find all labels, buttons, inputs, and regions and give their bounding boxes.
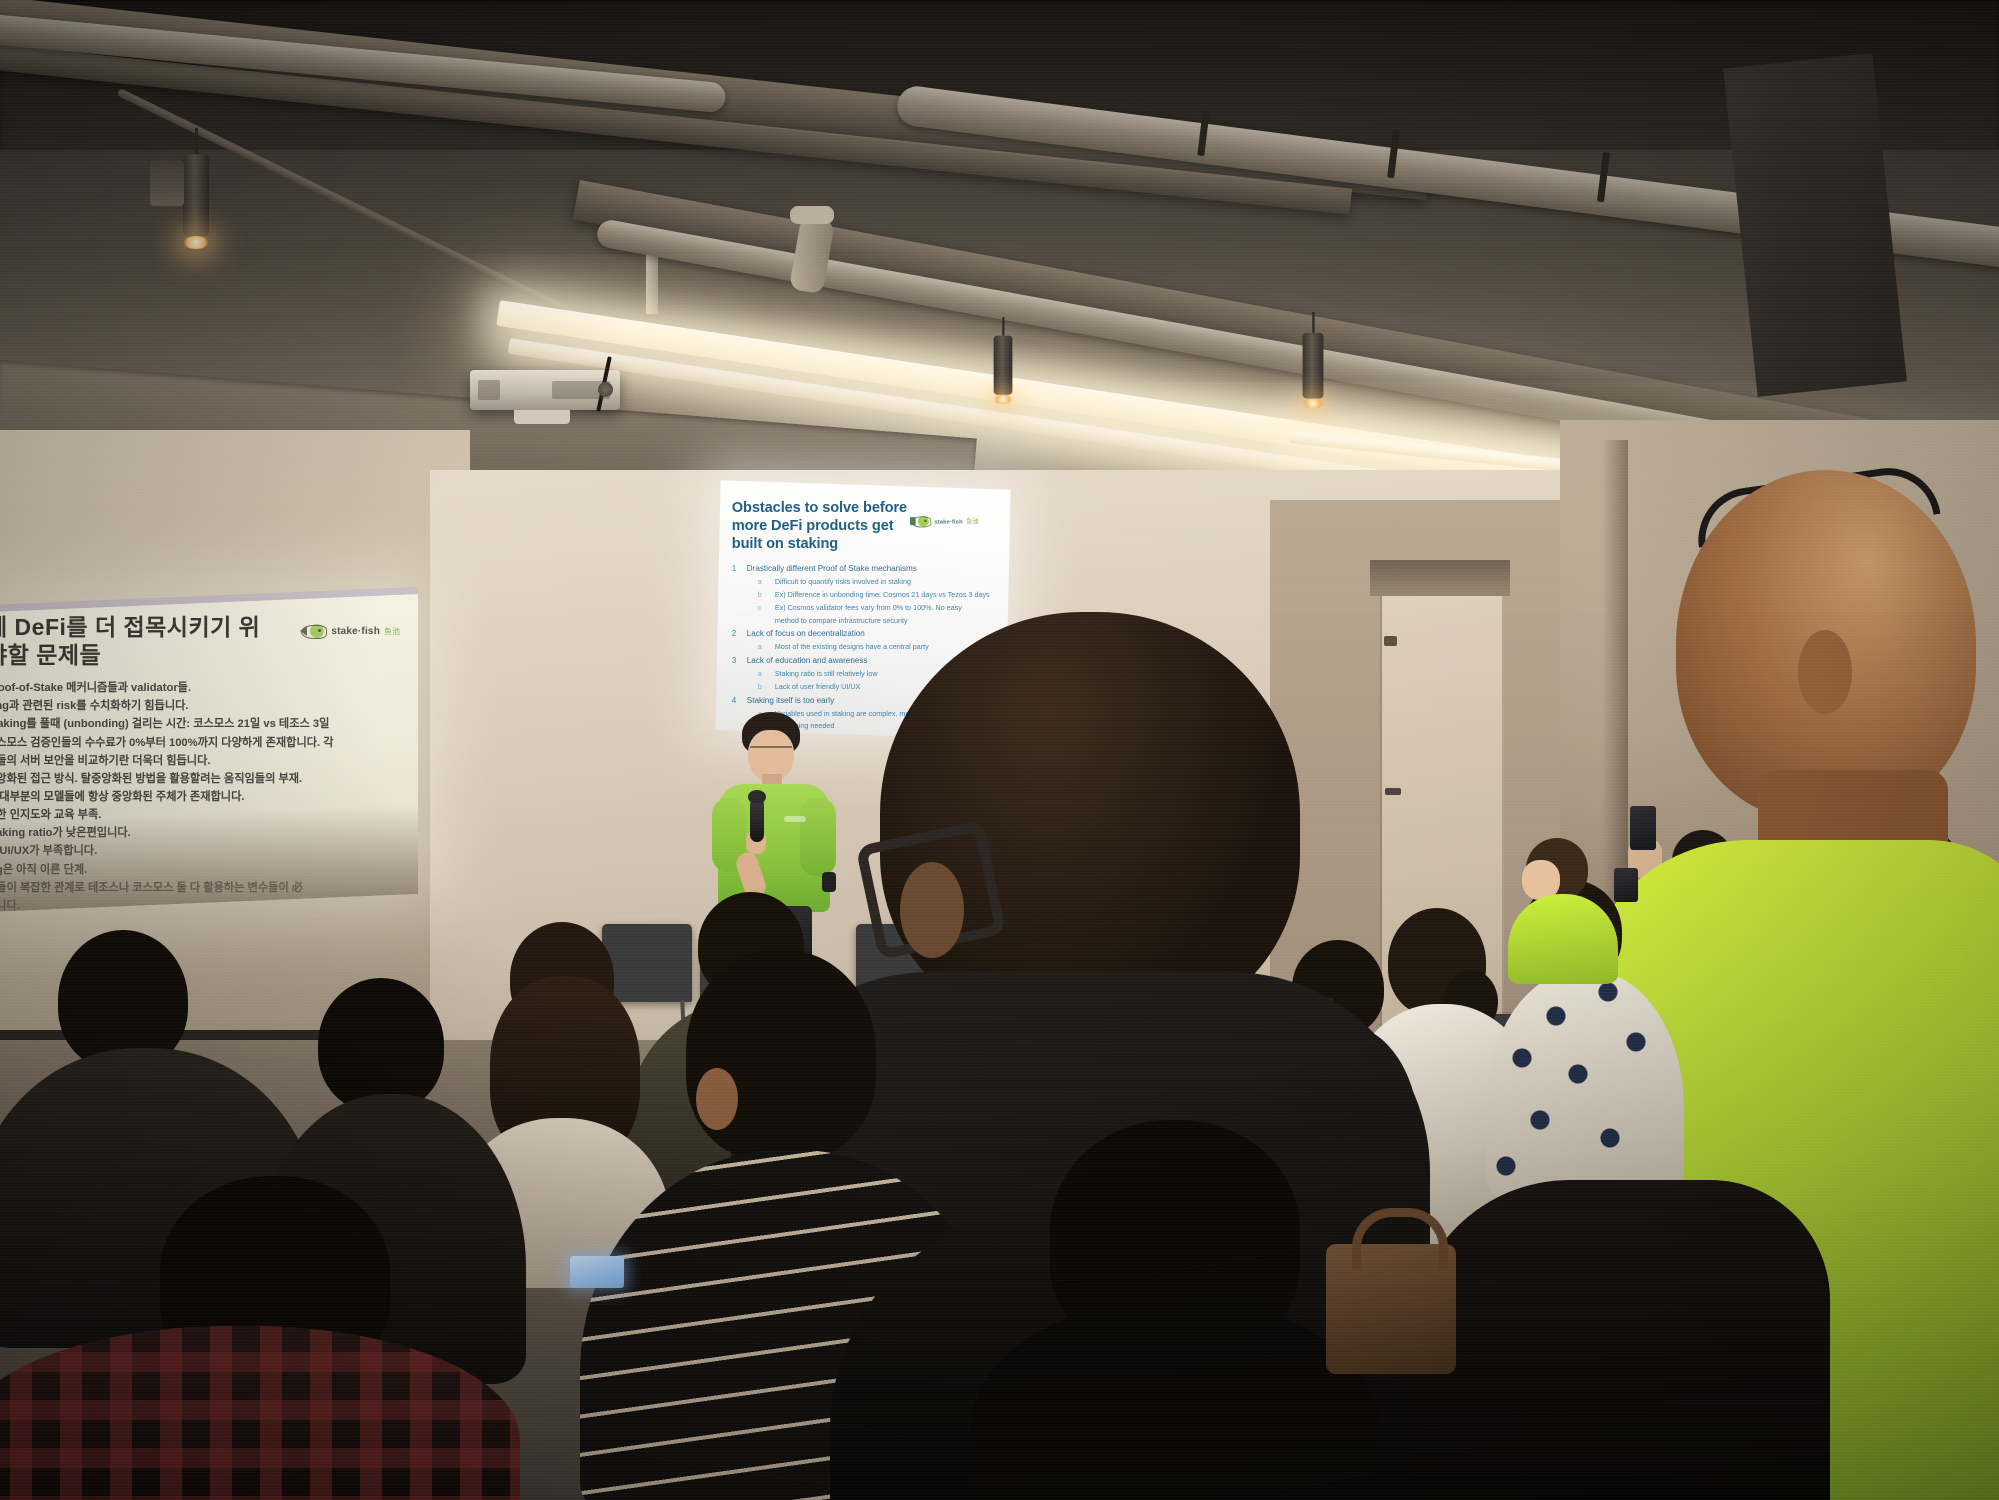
- speaker-shirt-logo: [784, 816, 806, 822]
- door-hinge-icon: [1384, 636, 1397, 646]
- item-number: 2: [732, 627, 747, 641]
- stakefish-fish-icon: [911, 515, 931, 527]
- slide-right-item: 1Drastically different Proof of Stake me…: [732, 562, 998, 576]
- slide-left-title-line-1: 에 DeFi를 더 접목시키기 위: [0, 613, 301, 641]
- attendee-torso: [1508, 894, 1618, 984]
- attendee-torso: [970, 1300, 1380, 1500]
- stakefish-wordmark: stake·fish: [331, 626, 380, 637]
- attendee-foreground-right-dark: [1410, 1180, 1830, 1500]
- slide-left-title-line-2: 야할 문제들: [0, 641, 301, 669]
- item-number: 3: [732, 654, 747, 668]
- slide-left-body-line: 인들의 서버 보안을 비교하기란 더욱더 힘듭니다.: [0, 752, 410, 770]
- attendee-head: [318, 978, 444, 1112]
- subitem-text: Staking ratio is still relatively low: [775, 669, 878, 678]
- subitem-text: Lack of user friendly UI/UX: [775, 682, 861, 691]
- projection-screen-left: 에 DeFi를 더 접목시키기 위 야할 문제들 stake·fish 鱼池 P…: [0, 587, 418, 912]
- pendant-spotlight-icon: [1303, 312, 1324, 409]
- subitem-text: Difficult to quantify risks involved in …: [775, 577, 911, 586]
- subitem-mark: b: [758, 589, 775, 602]
- slide-left-body-line: 코스모스 검증인들의 수수료가 0%부터 100%까지 다양하게 존재합니다. …: [0, 734, 410, 752]
- glasses-icon: [750, 746, 792, 758]
- smartphone-icon[interactable]: [570, 1256, 624, 1288]
- item-text: Drastically different Proof of Stake mec…: [747, 564, 917, 573]
- attendee-ear: [900, 862, 964, 958]
- item-text: Lack of education and awareness: [747, 656, 868, 665]
- microphone-icon: [750, 798, 764, 842]
- presenter-clicker-icon: [822, 872, 836, 892]
- stakefish-cjk: 鱼池: [966, 517, 978, 526]
- handbag-strap: [1352, 1208, 1448, 1269]
- stakefish-cjk: 鱼池: [384, 626, 400, 637]
- stakefish-logo-right: stake·fish 鱼池: [911, 515, 979, 527]
- recessed-light-icon: [150, 160, 184, 206]
- projector-mount: [514, 410, 570, 424]
- microphone-head-icon: [748, 790, 766, 804]
- item-text: Staking itself is too early: [747, 696, 834, 705]
- slide-left-body-line: Proof-of-Stake 메커니즘들과 validator들.: [0, 679, 410, 697]
- attendee-ear: [1798, 630, 1852, 714]
- slide-left-body-line: 중앙화된 접근 방식. 탈중앙화된 방법을 활용할려는 움직임들의 부재.: [0, 770, 410, 788]
- slide-right-title: Obstacles to solve before more DeFi prod…: [732, 499, 912, 553]
- slide-right-subitem: bEx) Difference in unbonding time: Cosmo…: [732, 589, 998, 602]
- subitem-mark: a: [758, 576, 775, 589]
- attendee-ear: [696, 1068, 738, 1130]
- pendant-spotlight-icon: [994, 317, 1013, 404]
- ceiling-projector: [470, 370, 620, 422]
- slide-left-body-line: king과 관련된 risk를 수치화하기 힘듭니다.: [0, 697, 410, 715]
- subitem-mark: a: [758, 668, 775, 681]
- attendee-torso: [1486, 970, 1684, 1200]
- stakefish-wordmark: stake·fish: [935, 518, 964, 525]
- subitem-mark: c: [758, 602, 775, 615]
- attendee-lime-seated-back: [1502, 838, 1622, 978]
- attendee-torso: [0, 1326, 520, 1500]
- stakefish-logo-left: stake·fish 鱼池: [301, 623, 400, 639]
- speaker-sleeve-right: [800, 798, 836, 876]
- door-handle-icon[interactable]: [1385, 788, 1401, 795]
- attendee-foreground-left-plaid: [0, 1176, 520, 1500]
- subitem-mark: b: [758, 681, 775, 694]
- screen-left-shadow: [0, 804, 418, 912]
- item-text: Lack of focus on decentralization: [747, 629, 865, 638]
- subitem-mark: a: [758, 641, 775, 654]
- item-number: 1: [732, 562, 747, 576]
- projector-lens-icon: [598, 382, 613, 397]
- stakefish-fish-icon: [301, 623, 327, 639]
- subitem-text: Ex) Cosmos validator fees vary from 0% t…: [775, 603, 962, 612]
- pendant-spotlight-icon: [183, 128, 209, 249]
- attendee-back-of-head-mid: [1010, 1120, 1340, 1500]
- slide-left-body-line: 된 대부분의 모델들에 항상 중앙화된 주체가 존재합니다.: [0, 788, 410, 806]
- slide-left-body-line: Staking를 풀때 (unbonding) 걸리는 시간: 코스모스 21일…: [0, 715, 410, 733]
- item-number: 4: [732, 694, 747, 708]
- presentation-photo: 에 DeFi를 더 접목시키기 위 야할 문제들 stake·fish 鱼池 P…: [0, 0, 1999, 1500]
- subitem-text: Ex) Difference in unbonding time: Cosmos…: [775, 590, 990, 599]
- door-frame-header: [1370, 560, 1510, 596]
- smartphone-icon[interactable]: [1614, 868, 1638, 902]
- projector-vent-icon: [478, 380, 500, 400]
- slide-right-subitem: aDifficult to quantify risks involved in…: [732, 576, 998, 589]
- pipe-valve-cap: [790, 206, 834, 224]
